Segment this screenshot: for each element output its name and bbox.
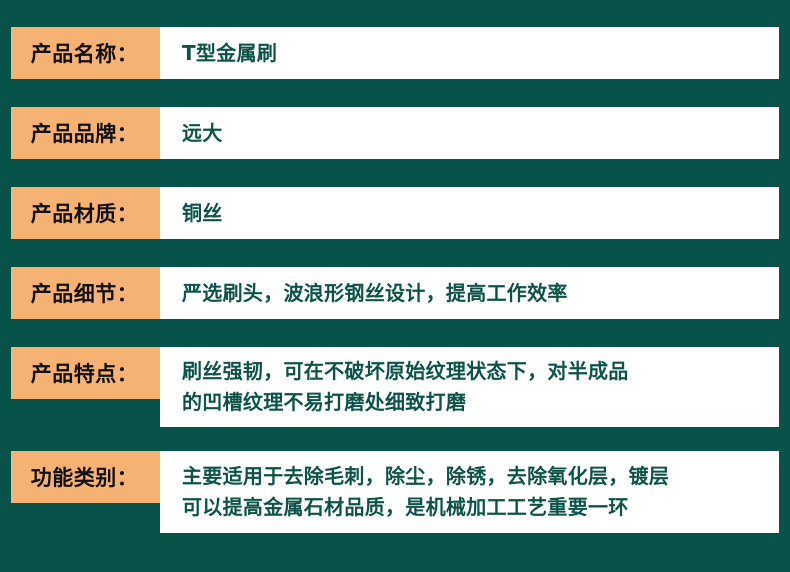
spec-value-product-brand: 远大 [160,107,779,159]
spec-label-product-brand: 产品品牌： [11,107,160,159]
spec-value-line: 主要适用于去除毛刺，除尘，除锈，去除氧化层，镀层 [182,461,769,492]
spec-row: 产品材质： 铜丝 [11,187,779,239]
spec-label-function-category: 功能类别： [11,451,160,503]
spec-value-line: 铜丝 [182,198,769,229]
spec-value-product-name: T型金属刷 [160,27,779,79]
spec-row: 产品名称： T型金属刷 [11,27,779,79]
spec-label-product-detail: 产品细节： [11,267,160,319]
spec-value-line: 严选刷头，波浪形钢丝设计，提高工作效率 [182,278,769,309]
spec-value-line: T型金属刷 [182,38,769,69]
spec-value-line: 可以提高金属石材品质，是机械加工工艺重要一环 [182,492,769,523]
spec-row: 功能类别： 主要适用于去除毛刺，除尘，除锈，去除氧化层，镀层 可以提高金属石材品… [11,451,779,533]
spec-value-function-category: 主要适用于去除毛刺，除尘，除锈，去除氧化层，镀层 可以提高金属石材品质，是机械加… [160,451,779,533]
spec-row: 产品细节： 严选刷头，波浪形钢丝设计，提高工作效率 [11,267,779,319]
spec-label-product-features: 产品特点： [11,347,160,399]
spec-value-line: 的凹槽纹理不易打磨处细致打磨 [182,387,769,418]
spec-value-product-features: 刷丝强韧，可在不破坏原始纹理状态下，对半成品 的凹槽纹理不易打磨处细致打磨 [160,347,779,427]
product-spec-sheet: 产品名称： T型金属刷 产品品牌： 远大 产品材质： 铜丝 产品细节： 严选刷头… [0,0,790,572]
spec-value-line: 刷丝强韧，可在不破坏原始纹理状态下，对半成品 [182,356,769,387]
spec-value-line: 远大 [182,118,769,149]
spec-value-product-material: 铜丝 [160,187,779,239]
spec-row: 产品特点： 刷丝强韧，可在不破坏原始纹理状态下，对半成品 的凹槽纹理不易打磨处细… [11,347,779,427]
spec-value-product-detail: 严选刷头，波浪形钢丝设计，提高工作效率 [160,267,779,319]
spec-label-product-material: 产品材质： [11,187,160,239]
spec-label-product-name: 产品名称： [11,27,160,79]
spec-row: 产品品牌： 远大 [11,107,779,159]
